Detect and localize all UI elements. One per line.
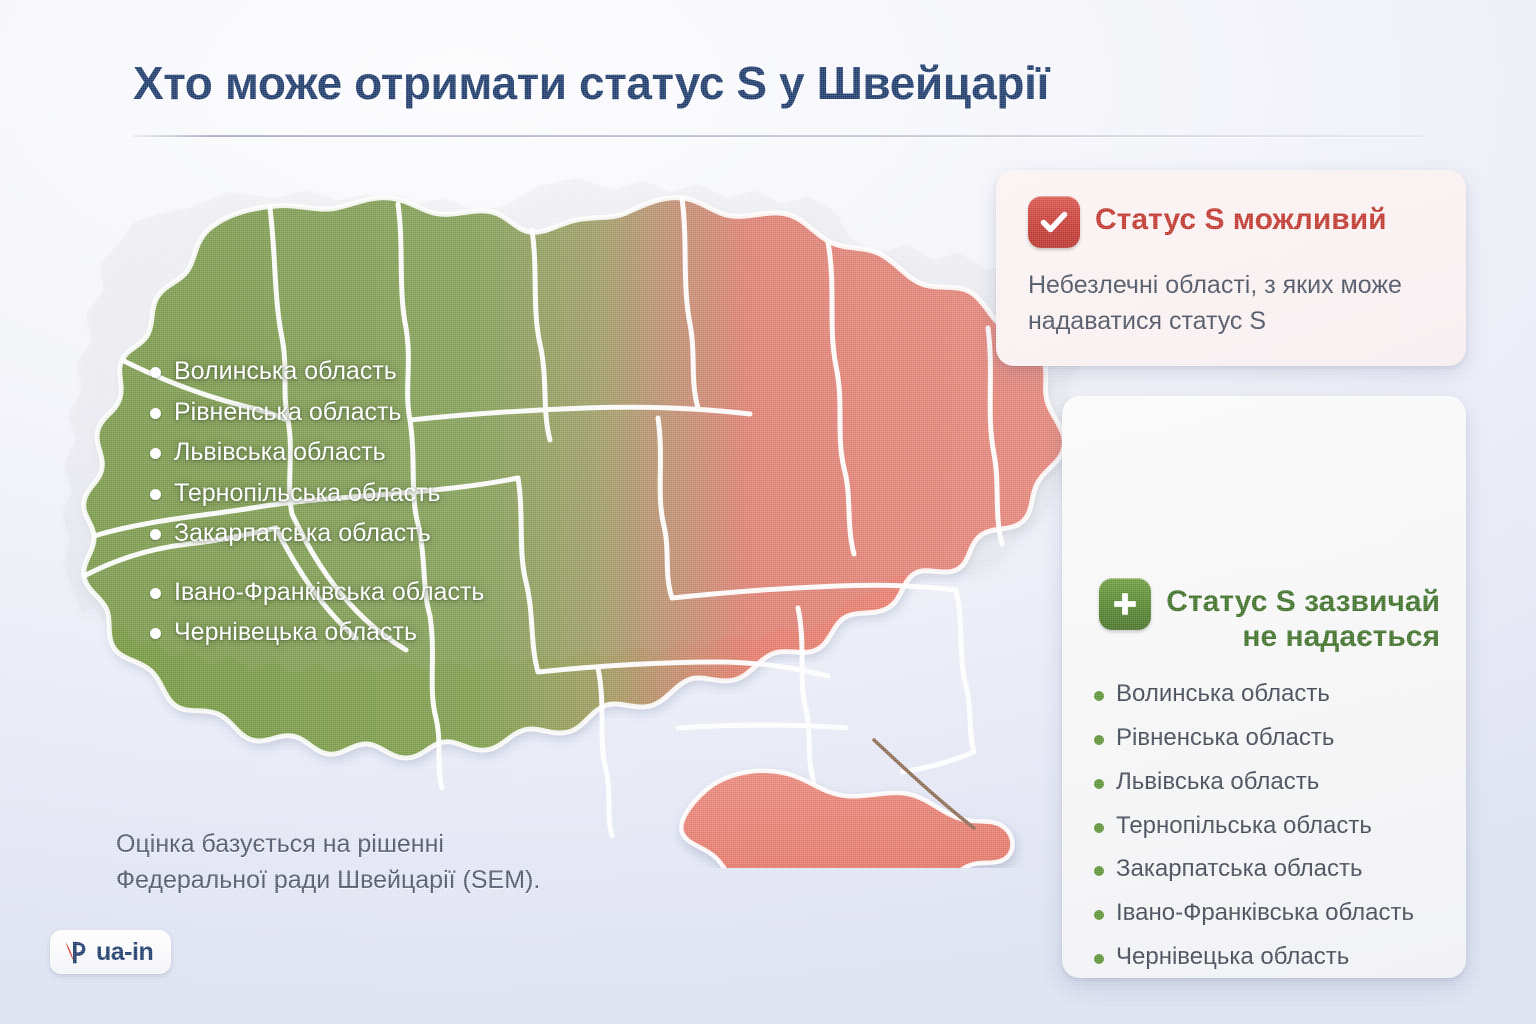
list-item: Тернопільська область bbox=[150, 478, 510, 509]
ua-in-logo[interactable]: ua-in bbox=[50, 930, 171, 974]
list-item: Львівська область bbox=[1094, 768, 1440, 797]
region-label: Рівненська область bbox=[1116, 724, 1334, 753]
bullet-icon bbox=[1094, 866, 1104, 876]
region-label: Львівська область bbox=[174, 437, 386, 468]
card-title-line1: Статус S зазвичай bbox=[1166, 585, 1440, 618]
logo-text: ua-in bbox=[96, 938, 153, 967]
logo-mark-icon bbox=[63, 938, 89, 966]
list-item: Волинська область bbox=[1094, 680, 1440, 709]
card-body-text: Небезлечні області, з яких може надавати… bbox=[1028, 268, 1436, 339]
check-icon bbox=[1028, 196, 1080, 248]
region-label: Закарпатська область bbox=[1116, 855, 1363, 884]
list-item: Чернівецька область bbox=[1094, 943, 1440, 972]
bullet-icon bbox=[150, 448, 161, 459]
region-label: Тернопільська область bbox=[1116, 812, 1372, 841]
bullet-icon bbox=[150, 489, 161, 500]
region-label: Закарпатська область bbox=[174, 518, 431, 549]
footnote-line-2: Федеральної ради Швейцарії (SEM). bbox=[116, 863, 676, 899]
bullet-icon bbox=[1094, 910, 1104, 920]
list-item: Рівненська область bbox=[150, 397, 510, 428]
region-label: Тернопільська область bbox=[174, 478, 441, 509]
page-title: Хто може отримати статус S у Швейцарії bbox=[133, 58, 1423, 109]
header: Хто може отримати статус S у Швейцарії bbox=[133, 58, 1423, 137]
region-label: Волинська область bbox=[174, 356, 397, 387]
region-label: Івано-Франківська область bbox=[1116, 899, 1414, 928]
list-item: Львівська область bbox=[150, 437, 510, 468]
green-region-list: Волинська область Рівненська область Льв… bbox=[1094, 680, 1440, 972]
footnote-line-1: Оцінка базується на рішенні bbox=[116, 827, 676, 863]
region-label: Львівська область bbox=[1116, 768, 1319, 797]
list-item: Чернівецька область bbox=[150, 617, 510, 648]
list-item: Івано-Франківська область bbox=[1094, 899, 1440, 928]
region-label: Чернівецька область bbox=[174, 617, 417, 648]
bullet-icon bbox=[150, 588, 161, 599]
list-item: Тернопільська область bbox=[1094, 812, 1440, 841]
card-title: Статус S зазвичай не надається bbox=[1166, 578, 1440, 654]
list-item: Волинська область bbox=[150, 356, 510, 387]
bullet-icon bbox=[150, 367, 161, 378]
region-label: Волинська область bbox=[1116, 680, 1330, 709]
bullet-icon bbox=[1094, 954, 1104, 964]
bullet-icon bbox=[150, 408, 161, 419]
card-header: Статус S можливий bbox=[1028, 196, 1436, 248]
source-footnote: Оцінка базується на рішенні Федеральної … bbox=[116, 827, 676, 898]
bullet-icon bbox=[150, 529, 161, 540]
title-divider bbox=[133, 135, 1423, 137]
bullet-icon bbox=[150, 628, 161, 639]
list-item: Рівненська область bbox=[1094, 724, 1440, 753]
card-status-not-granted: Статус S зазвичай не надається Волинська… bbox=[1062, 396, 1466, 978]
card-status-possible: Статус S можливий Небезлечні області, з … bbox=[996, 170, 1466, 366]
plus-icon bbox=[1099, 578, 1151, 630]
card-title: Статус S можливий bbox=[1095, 196, 1387, 237]
list-item: Закарпатська область bbox=[150, 518, 510, 549]
region-label: Рівненська область bbox=[174, 397, 401, 428]
bullet-icon bbox=[1094, 779, 1104, 789]
bullet-icon bbox=[1094, 823, 1104, 833]
map-overlay-region-list: Волинська область Рівненська область Льв… bbox=[150, 356, 510, 658]
bullet-icon bbox=[1094, 691, 1104, 701]
card-header: Статус S зазвичай не надається bbox=[1094, 396, 1440, 654]
region-label: Івано-Франківська область bbox=[174, 577, 484, 608]
region-label: Чернівецька область bbox=[1116, 943, 1349, 972]
list-item: Івано-Франківська область bbox=[150, 577, 510, 608]
card-title-line2: не надається bbox=[1242, 620, 1440, 653]
list-item: Закарпатська область bbox=[1094, 855, 1440, 884]
bullet-icon bbox=[1094, 735, 1104, 745]
